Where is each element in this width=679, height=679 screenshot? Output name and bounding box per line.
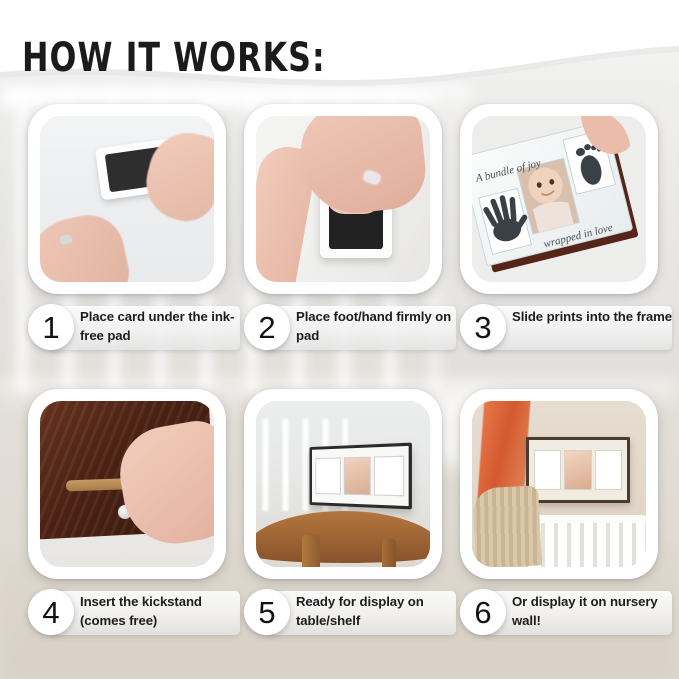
step-caption-text-5: Ready for display on table/shelf xyxy=(296,592,456,630)
keepsake-frame xyxy=(310,443,412,510)
steps-row-top: 1 Place card under the ink-free pad xyxy=(0,104,679,389)
footprint-window xyxy=(374,456,404,497)
step-caption-2: 2 Place foot/hand firmly on pad xyxy=(244,304,456,352)
footprint-window xyxy=(595,450,622,490)
handprint-window xyxy=(315,457,340,494)
step-photo-1 xyxy=(40,116,214,282)
step-number-badge-2: 2 xyxy=(244,304,290,350)
hand-right xyxy=(138,125,214,228)
scene-sliding-print-cards-into-frame: A bundle of joy wrapped in love xyxy=(472,116,646,282)
scene-hands-holding-ink-free-pad-over-card xyxy=(40,116,214,282)
step-photo-5 xyxy=(256,401,430,567)
white-crib-slats xyxy=(532,523,646,567)
step-number-badge-4: 4 xyxy=(28,589,74,635)
step-caption-text-3: Slide prints into the frame xyxy=(512,307,672,326)
photo-frame-6 xyxy=(460,389,658,579)
step-card-4[interactable]: 4 Insert the kickstand (comes free) xyxy=(28,389,226,579)
step-caption-1: 1 Place card under the ink-free pad xyxy=(28,304,240,352)
scene-frame-hanging-on-nursery-wall xyxy=(472,401,646,567)
handprint-window xyxy=(534,450,561,490)
keepsake-frame xyxy=(526,437,630,503)
baby-photo-window xyxy=(343,457,371,496)
step-photo-3: A bundle of joy wrapped in love xyxy=(472,116,646,282)
steps-grid: 1 Place card under the ink-free pad xyxy=(0,104,679,674)
photo-frame-5 xyxy=(244,389,442,579)
step-caption-4: 4 Insert the kickstand (comes free) xyxy=(28,589,240,637)
step-card-1[interactable]: 1 Place card under the ink-free pad xyxy=(28,104,226,294)
step-card-6[interactable]: 6 Or display it on nursery wall! xyxy=(460,389,658,579)
step-photo-2 xyxy=(256,116,430,282)
step-number-badge-3: 3 xyxy=(460,304,506,350)
page-title: HOW IT WORKS: xyxy=(22,35,326,81)
step-photo-6 xyxy=(472,401,646,567)
steps-row-bottom: 4 Insert the kickstand (comes free) xyxy=(0,389,679,674)
step-number-badge-6: 6 xyxy=(460,589,506,635)
hand-left xyxy=(40,209,134,282)
step-card-3[interactable]: A bundle of joy wrapped in love 3 Slide … xyxy=(460,104,658,294)
photo-frame-1 xyxy=(28,104,226,294)
scene-frame-standing-on-wooden-table xyxy=(256,401,430,567)
step-caption-text-4: Insert the kickstand (comes free) xyxy=(80,592,240,630)
step-caption-6: 6 Or display it on nursery wall! xyxy=(460,589,672,637)
step-caption-text-6: Or display it on nursery wall! xyxy=(512,592,672,630)
step-caption-3: 3 Slide prints into the frame xyxy=(460,304,672,352)
scene-hand-pressing-baby-foot-on-pad xyxy=(256,116,430,282)
table-leg-back xyxy=(382,539,396,567)
step-number-badge-1: 1 xyxy=(28,304,74,350)
wooden-table-top xyxy=(256,511,430,563)
adult-hand xyxy=(297,116,430,218)
baby-photo-window xyxy=(564,450,591,490)
photo-frame-3: A bundle of joy wrapped in love xyxy=(460,104,658,294)
table-leg-front xyxy=(302,535,320,567)
step-caption-5: 5 Ready for display on table/shelf xyxy=(244,589,456,637)
photo-frame-2 xyxy=(244,104,442,294)
how-it-works-infographic: HOW IT WORKS: xyxy=(0,0,679,679)
knit-blanket xyxy=(472,485,542,567)
step-caption-text-1: Place card under the ink-free pad xyxy=(80,307,240,345)
photo-frame-4 xyxy=(28,389,226,579)
step-photo-4 xyxy=(40,401,214,567)
step-card-5[interactable]: 5 Ready for display on table/shelf xyxy=(244,389,442,579)
step-caption-text-2: Place foot/hand firmly on pad xyxy=(296,307,456,345)
step-number-badge-5: 5 xyxy=(244,589,290,635)
scene-inserting-kickstand-into-frame-back xyxy=(40,401,214,567)
step-card-2[interactable]: 2 Place foot/hand firmly on pad xyxy=(244,104,442,294)
